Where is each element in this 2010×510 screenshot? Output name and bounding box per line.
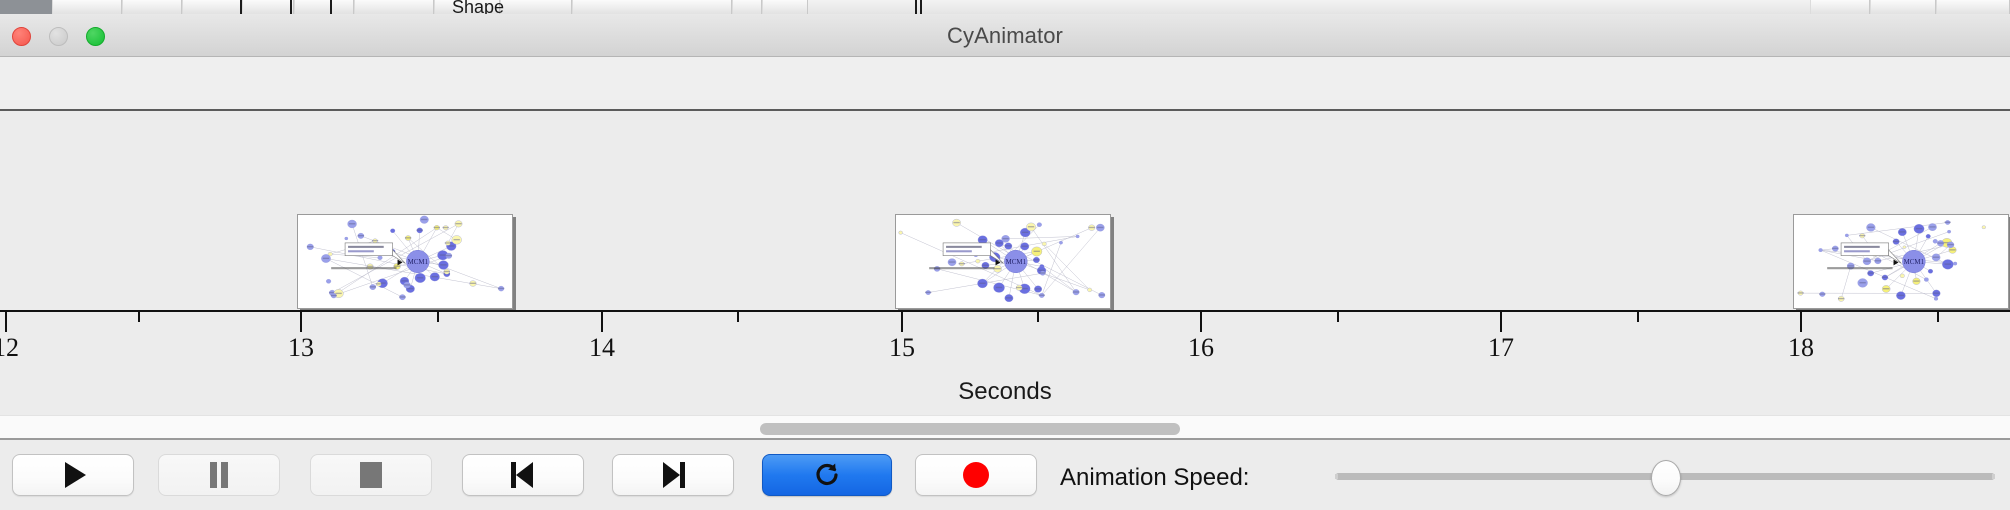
background-window-tick bbox=[920, 0, 922, 14]
background-window-segment bbox=[1870, 0, 1936, 14]
record-button[interactable] bbox=[915, 454, 1037, 496]
background-window-segment bbox=[572, 0, 732, 14]
axis-tick-label: 12 bbox=[0, 333, 19, 363]
background-window-segment bbox=[500, 0, 572, 14]
axis-tick-minor bbox=[1037, 310, 1039, 322]
cyanimator-window: Shape CyAnimator Clear All Frames MCM1MC… bbox=[0, 0, 2010, 510]
axis-tick-minor bbox=[737, 310, 739, 322]
next-frame-button[interactable] bbox=[612, 454, 734, 496]
background-window-segment bbox=[182, 0, 242, 14]
background-window-segment bbox=[732, 0, 762, 14]
skip-back-icon bbox=[511, 462, 535, 488]
timeline-frame-thumbnail[interactable]: MCM1 bbox=[297, 214, 513, 309]
background-window-segment bbox=[762, 0, 808, 14]
animation-speed-label: Animation Speed: bbox=[1060, 464, 1249, 492]
play-icon bbox=[65, 462, 86, 488]
axis-tick-major bbox=[300, 310, 302, 332]
axis-tick-major bbox=[1500, 310, 1502, 332]
background-window-segment bbox=[294, 0, 354, 14]
loop-button[interactable] bbox=[762, 454, 892, 496]
slider-track-cap-left bbox=[1335, 474, 1338, 479]
svg-text:MCM1: MCM1 bbox=[408, 259, 429, 266]
skip-forward-icon bbox=[661, 462, 685, 488]
previous-frame-button[interactable] bbox=[462, 454, 584, 496]
network-thumbnail-graphic: MCM1 bbox=[1794, 215, 2008, 308]
axis-tick-minor bbox=[1937, 310, 1939, 322]
axis-tick-major bbox=[1200, 310, 1202, 332]
playback-bar: Animation Speed: bbox=[0, 442, 2010, 510]
axis-tick-major bbox=[601, 310, 603, 332]
axis-tick-label: 16 bbox=[1188, 333, 1214, 363]
axis-tick-label: 17 bbox=[1488, 333, 1514, 363]
background-window-dark-block bbox=[0, 0, 52, 14]
pause-icon bbox=[209, 462, 229, 488]
animation-speed-slider-thumb[interactable] bbox=[1651, 460, 1681, 496]
background-window-tick bbox=[290, 0, 292, 14]
axis-tick-label: 18 bbox=[1788, 333, 1814, 363]
axis-tick-label: 13 bbox=[288, 333, 314, 363]
stop-button[interactable] bbox=[310, 454, 432, 496]
title-bar: CyAnimator bbox=[0, 14, 2010, 57]
background-window-label: Shape bbox=[452, 0, 504, 15]
slider-track-cap-right bbox=[1992, 474, 1995, 479]
network-thumbnail-graphic: MCM1 bbox=[298, 215, 512, 308]
timeline-frame-thumbnail[interactable]: MCM1 bbox=[895, 214, 1111, 309]
axis-tick-label: 14 bbox=[589, 333, 615, 363]
background-window-segment bbox=[52, 0, 122, 14]
frame-toolbar: Clear All Frames bbox=[0, 57, 2010, 111]
window-title: CyAnimator bbox=[0, 14, 2010, 57]
stop-icon bbox=[360, 462, 382, 488]
axis-tick-major bbox=[5, 310, 7, 332]
axis-tick-major bbox=[1800, 310, 1802, 332]
network-thumbnail-graphic: MCM1 bbox=[896, 215, 1110, 308]
background-window-segment bbox=[354, 0, 434, 14]
background-window-segment bbox=[1936, 0, 2010, 14]
record-icon bbox=[963, 462, 989, 488]
timeline-scrollbar[interactable] bbox=[0, 415, 2010, 440]
svg-text:MCM1: MCM1 bbox=[1904, 259, 1925, 266]
axis-tick-label: 15 bbox=[889, 333, 915, 363]
svg-text:MCM1: MCM1 bbox=[1006, 259, 1027, 266]
frames-timeline-strip[interactable]: MCM1MCM1MCM1 bbox=[0, 111, 2010, 311]
axis-tick-minor bbox=[437, 310, 439, 322]
background-window-segment bbox=[122, 0, 182, 14]
timeline-scrollbar-thumb[interactable] bbox=[760, 423, 1180, 435]
pause-button[interactable] bbox=[158, 454, 280, 496]
background-window-segment bbox=[1810, 0, 1870, 14]
background-window-segment bbox=[242, 0, 294, 14]
background-window-sliver: Shape bbox=[0, 0, 2010, 15]
axis-tick-major bbox=[901, 310, 903, 332]
timeline-axis-zone: 12131415161718 bbox=[0, 310, 2010, 378]
background-window-tick bbox=[330, 0, 332, 14]
timeline-frame-thumbnail[interactable]: MCM1 bbox=[1793, 214, 2009, 309]
loop-icon bbox=[812, 460, 842, 490]
axis-tick-minor bbox=[138, 310, 140, 322]
axis-title: Seconds bbox=[0, 378, 2010, 406]
background-window-tick bbox=[240, 0, 242, 14]
play-button[interactable] bbox=[12, 454, 134, 496]
background-window-tick bbox=[915, 0, 917, 14]
axis-tick-minor bbox=[1337, 310, 1339, 322]
axis-tick-minor bbox=[1637, 310, 1639, 322]
